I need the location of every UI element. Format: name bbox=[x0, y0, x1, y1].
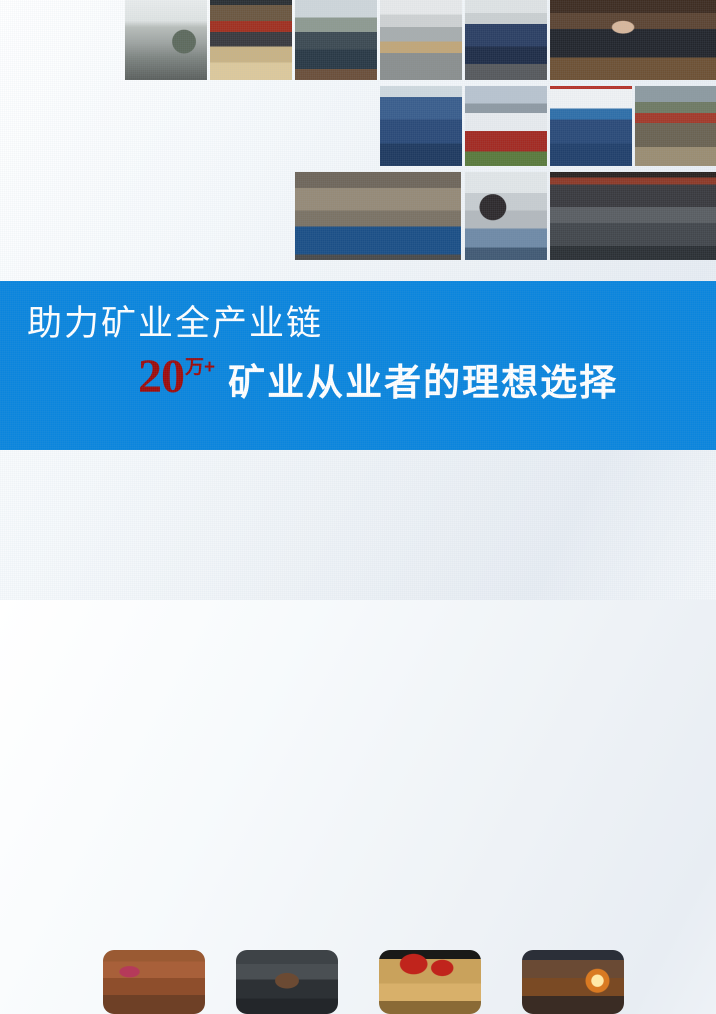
collage-photo-lab-technician-at-analysis-equipment bbox=[125, 0, 207, 80]
collage-photo-mine-staff-in-front-of-ore-dressing-plant bbox=[550, 86, 632, 166]
member-count-unit-superscript: 万+ bbox=[185, 358, 215, 377]
banner-headline-secondary: 20 万+ 矿业从业者的理想选择 bbox=[138, 353, 618, 401]
banner-tagline: 矿业从业者的理想选择 bbox=[228, 363, 618, 403]
collage-photo-mine-crew-group-portrait-blue-uniforms bbox=[380, 86, 462, 166]
gallery-photo-two-workers-in-red-helmets-at-bench bbox=[379, 950, 481, 1014]
blue-promo-banner: 助力矿业全产业链 20 万+ 矿业从业者的理想选择 bbox=[0, 281, 716, 450]
collage-photo-workers-at-sampling-bottles-line bbox=[380, 0, 462, 80]
gallery-photo-smiling-miner-with-helmet-portrait bbox=[236, 950, 338, 1014]
member-count-number: 20 bbox=[138, 353, 184, 401]
member-count-unit: 万 bbox=[185, 357, 204, 378]
collage-photo-company-conference-hall-ceremony bbox=[210, 0, 292, 80]
gallery-photo-geologist-taking-notes-at-outcrop bbox=[103, 950, 205, 1014]
collage-photo-workers-in-red-helmets-beside-van bbox=[635, 86, 716, 166]
photo-collage bbox=[0, 0, 716, 262]
collage-photo-executive-portrait-with-china-flag bbox=[550, 0, 716, 80]
collage-photo-company-lobby-signage-wall bbox=[295, 172, 461, 260]
member-count-plus: + bbox=[204, 357, 215, 378]
gallery-photo-foundry-worker-pouring-molten-metal bbox=[522, 950, 624, 1014]
collage-photo-technician-handling-sample-container bbox=[465, 172, 547, 260]
collage-photo-2017-china-mining-conference-group-photo bbox=[550, 172, 716, 260]
collage-photo-field-team-cheering-on-mountain bbox=[295, 0, 377, 80]
collage-photo-banner-ceremony-xian-tianyu-mining-tech bbox=[465, 86, 547, 166]
bottom-photo-gallery bbox=[0, 450, 716, 600]
banner-headline-primary: 助力矿业全产业链 bbox=[27, 305, 323, 343]
collage-photo-engineer-inspecting-sample-row bbox=[465, 0, 547, 80]
promotional-banner-page: 助力矿业全产业链 20 万+ 矿业从业者的理想选择 bbox=[0, 0, 716, 600]
